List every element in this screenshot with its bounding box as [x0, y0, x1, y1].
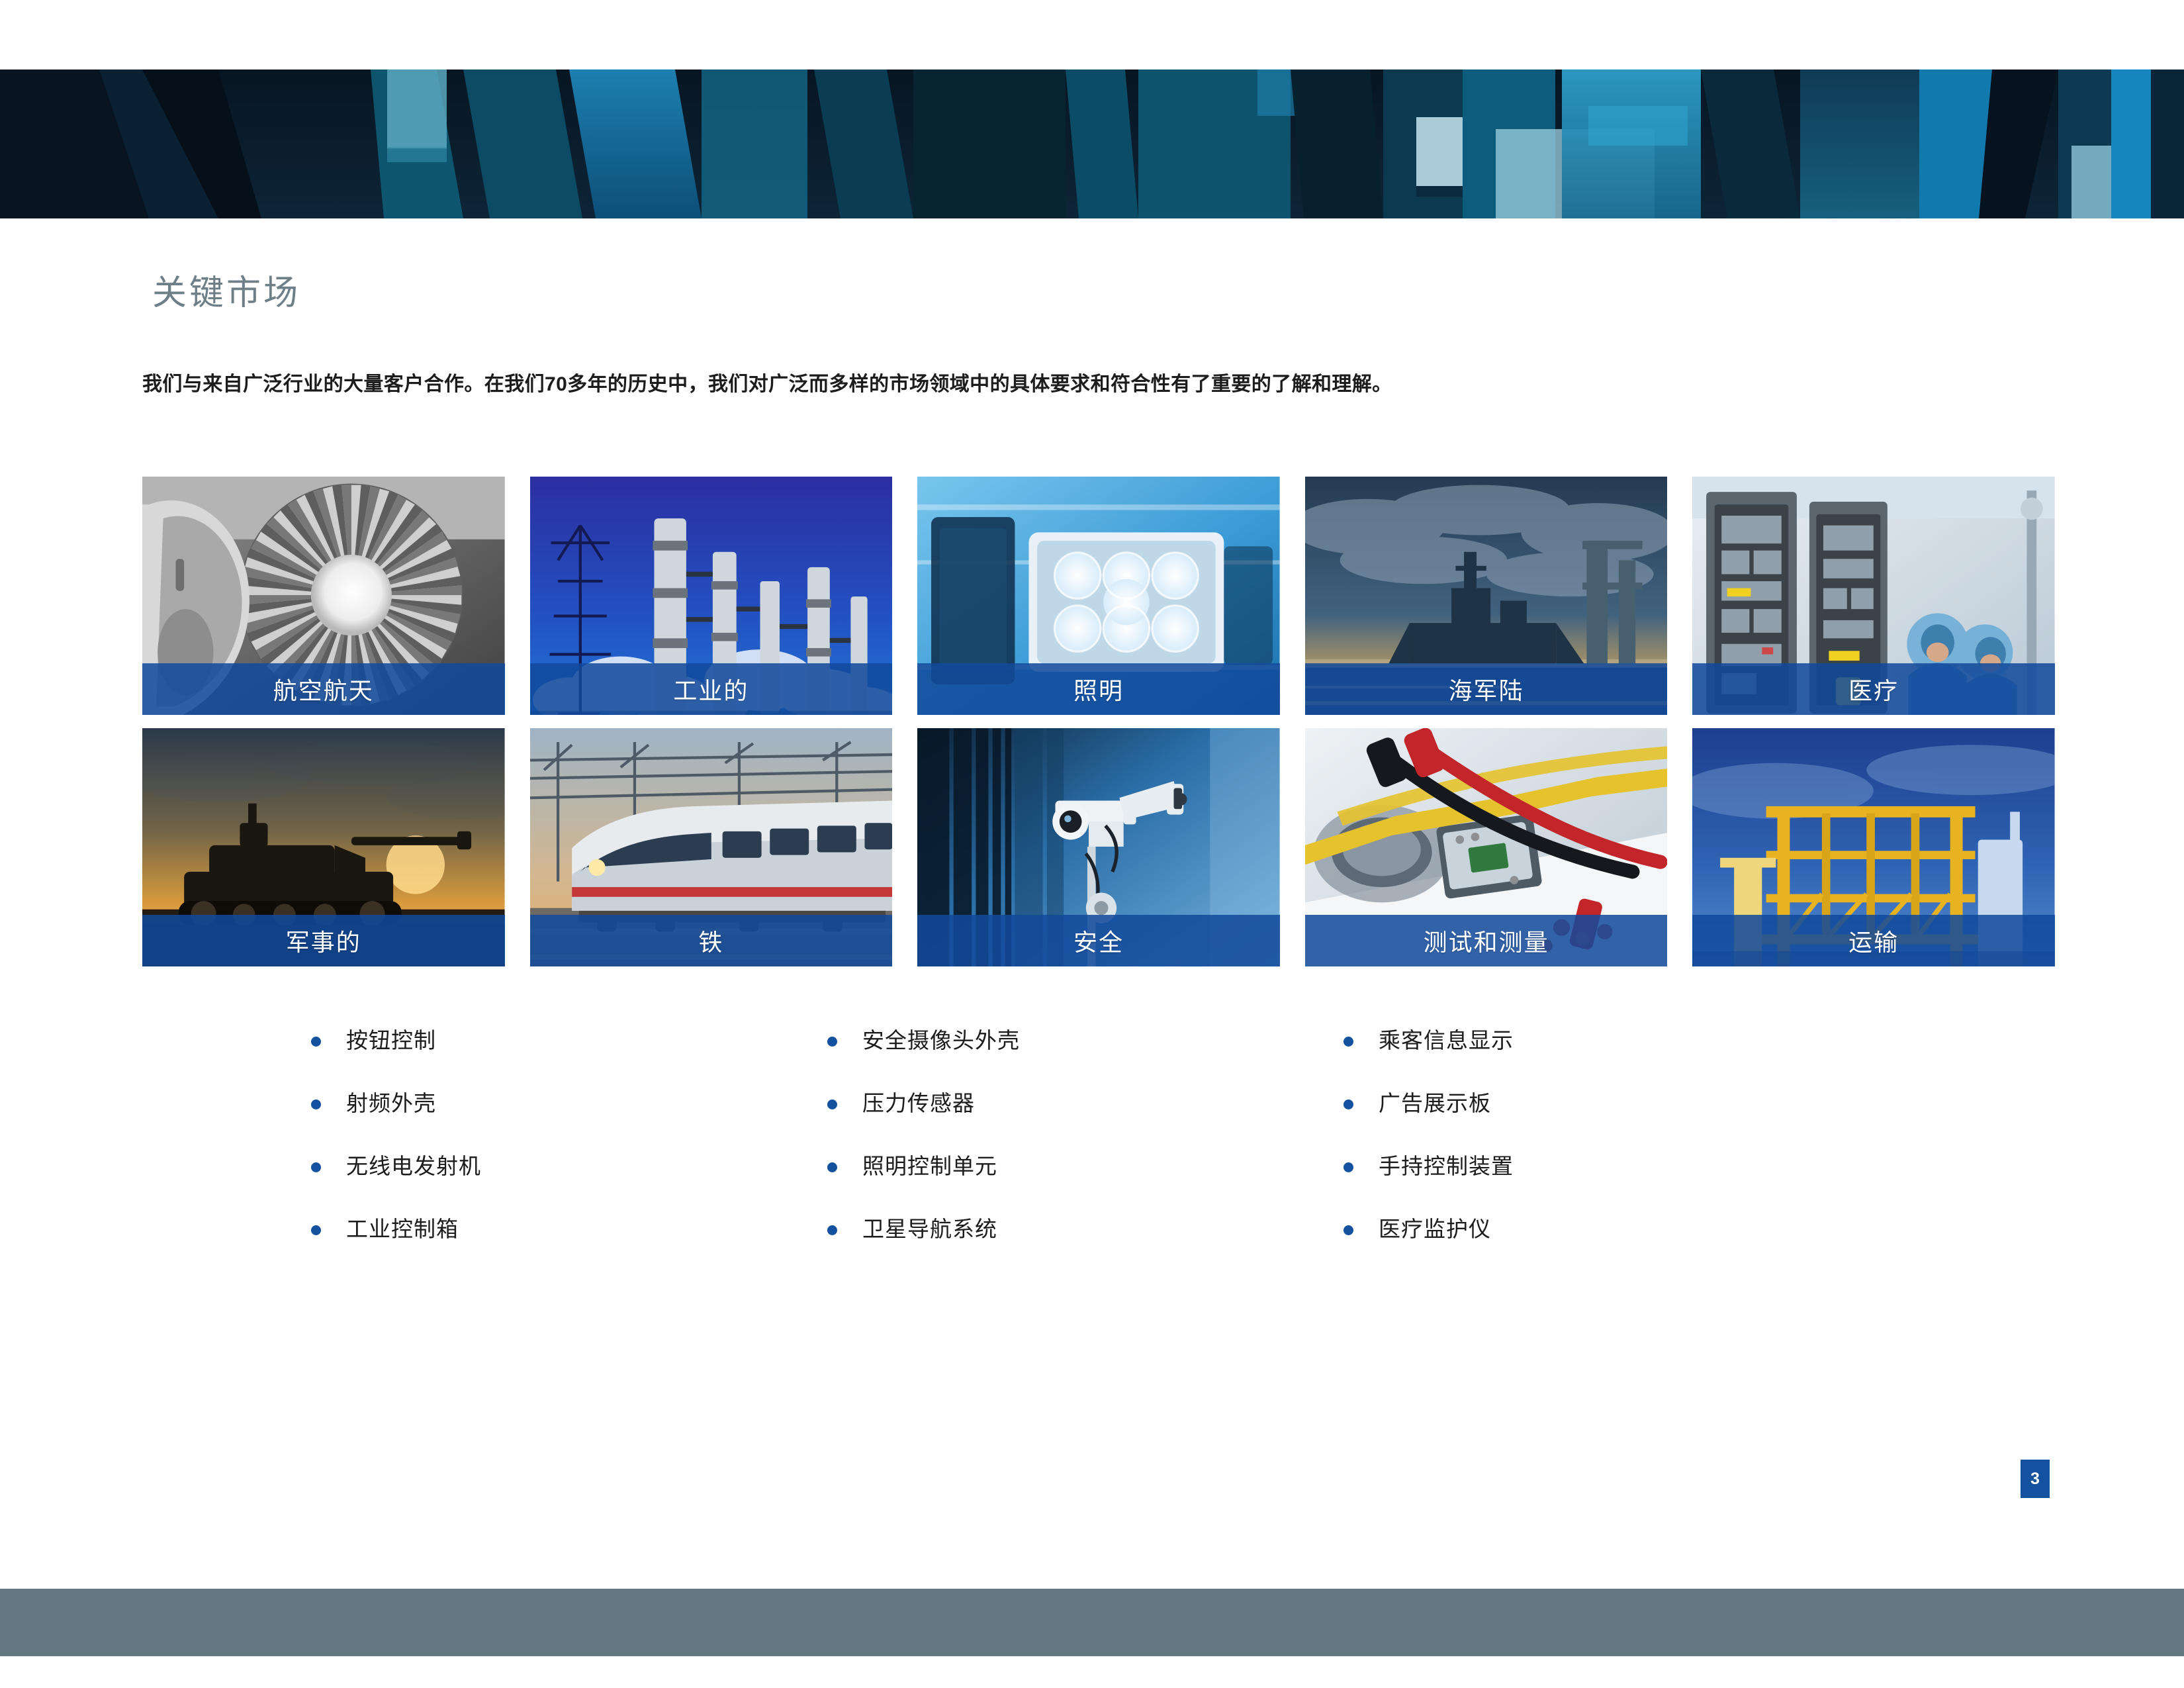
list-item: 安全摄像头外壳	[827, 1026, 1343, 1089]
bullet-dot-icon	[311, 1162, 321, 1172]
bullet-dot-icon	[1343, 1225, 1353, 1235]
card-caption-band: 军事的	[142, 915, 505, 966]
market-card-naval[interactable]: 海军陆	[1305, 477, 1668, 715]
card-caption-label: 工业的	[673, 672, 749, 706]
list-item: 医疗监护仪	[1343, 1215, 1860, 1278]
card-caption-label: 海军陆	[1449, 672, 1524, 706]
card-caption-band: 航空航天	[142, 663, 505, 715]
market-card-military[interactable]: 军事的	[142, 728, 505, 966]
card-caption-band: 铁	[530, 915, 893, 966]
market-card-security[interactable]: 安全	[917, 728, 1280, 966]
applications-bullet-list: 按钮控制 射频外壳 无线电发射机 工业控制箱 安全摄像头外壳 压力传感器 照明控…	[311, 1026, 1899, 1278]
bullet-label: 安全摄像头外壳	[862, 1026, 1020, 1055]
card-caption-label: 安全	[1073, 923, 1124, 958]
list-item: 照明控制单元	[827, 1152, 1343, 1215]
list-item: 手持控制装置	[1343, 1152, 1860, 1215]
bullet-label: 医疗监护仪	[1379, 1215, 1491, 1244]
list-item: 无线电发射机	[311, 1152, 827, 1215]
bullet-dot-icon	[311, 1037, 321, 1047]
market-card-transport[interactable]: 运输	[1692, 728, 2055, 966]
bullet-dot-icon	[311, 1225, 321, 1235]
market-card-rail[interactable]: 铁	[530, 728, 893, 966]
intro-paragraph: 我们与来自广泛行业的大量客户合作。在我们70多年的历史中，我们对广泛而多样的市场…	[142, 371, 2062, 399]
card-caption-label: 运输	[1848, 923, 1899, 958]
market-card-row-2: 军事的	[142, 728, 2055, 966]
market-card-aerospace[interactable]: 航空航天	[142, 477, 505, 715]
header-abstract-architecture-art	[0, 70, 2184, 218]
list-item: 乘客信息显示	[1343, 1026, 1860, 1089]
list-item: 广告展示板	[1343, 1089, 1860, 1152]
bullet-column-2: 安全摄像头外壳 压力传感器 照明控制单元 卫星导航系统	[827, 1026, 1343, 1278]
bullet-dot-icon	[827, 1162, 837, 1172]
list-item: 按钮控制	[311, 1026, 827, 1089]
bullet-dot-icon	[827, 1100, 837, 1109]
bullet-label: 射频外壳	[346, 1089, 436, 1118]
bullet-label: 手持控制装置	[1379, 1152, 1514, 1181]
bullet-column-3: 乘客信息显示 广告展示板 手持控制装置 医疗监护仪	[1343, 1026, 1860, 1278]
list-item: 射频外壳	[311, 1089, 827, 1152]
bullet-dot-icon	[1343, 1162, 1353, 1172]
card-caption-label: 铁	[698, 923, 723, 958]
bullet-dot-icon	[827, 1225, 837, 1235]
bullet-dot-icon	[1343, 1037, 1353, 1047]
card-caption-band: 工业的	[530, 663, 893, 715]
page-number-badge: 3	[2021, 1460, 2050, 1498]
bullet-dot-icon	[827, 1037, 837, 1047]
card-caption-band: 海军陆	[1305, 663, 1668, 715]
bullet-label: 工业控制箱	[346, 1215, 459, 1244]
card-caption-band: 安全	[917, 915, 1280, 966]
market-card-row-1: 航空航天	[142, 477, 2055, 715]
list-item: 工业控制箱	[311, 1215, 827, 1278]
bullet-label: 卫星导航系统	[862, 1215, 997, 1244]
card-caption-band: 测试和测量	[1305, 915, 1668, 966]
market-card-lighting[interactable]: 照明	[917, 477, 1280, 715]
footer-bar	[0, 1589, 2184, 1656]
bullet-dot-icon	[311, 1100, 321, 1109]
bullet-label: 乘客信息显示	[1379, 1026, 1514, 1055]
card-caption-band: 照明	[917, 663, 1280, 715]
list-item: 压力传感器	[827, 1089, 1343, 1152]
card-caption-label: 照明	[1073, 672, 1124, 706]
market-card-medical[interactable]: 医疗	[1692, 477, 2055, 715]
bullet-dot-icon	[1343, 1100, 1353, 1109]
market-card-industrial[interactable]: 工业的	[530, 477, 893, 715]
list-item: 卫星导航系统	[827, 1215, 1343, 1278]
card-caption-label: 军事的	[286, 923, 361, 958]
card-caption-band: 医疗	[1692, 663, 2055, 715]
bullet-label: 压力传感器	[862, 1089, 975, 1118]
header-banner: www.dem-uk.com/deltron-enclosures	[0, 70, 2184, 218]
bullet-label: 广告展示板	[1379, 1089, 1491, 1118]
header-website-url[interactable]: www.dem-uk.com/deltron-enclosures	[1727, 216, 2048, 218]
card-caption-label: 医疗	[1848, 672, 1899, 706]
market-card-test-and-measurement[interactable]: 测试和测量	[1305, 728, 1668, 966]
bullet-column-1: 按钮控制 射频外壳 无线电发射机 工业控制箱	[311, 1026, 827, 1278]
bullet-label: 无线电发射机	[346, 1152, 481, 1181]
bullet-label: 按钮控制	[346, 1026, 436, 1055]
card-caption-band: 运输	[1692, 915, 2055, 966]
bullet-label: 照明控制单元	[862, 1152, 997, 1181]
market-card-grid: 航空航天	[142, 477, 2055, 980]
card-caption-label: 航空航天	[273, 672, 374, 706]
card-caption-label: 测试和测量	[1424, 923, 1549, 958]
page-title: 关键市场	[152, 265, 300, 314]
